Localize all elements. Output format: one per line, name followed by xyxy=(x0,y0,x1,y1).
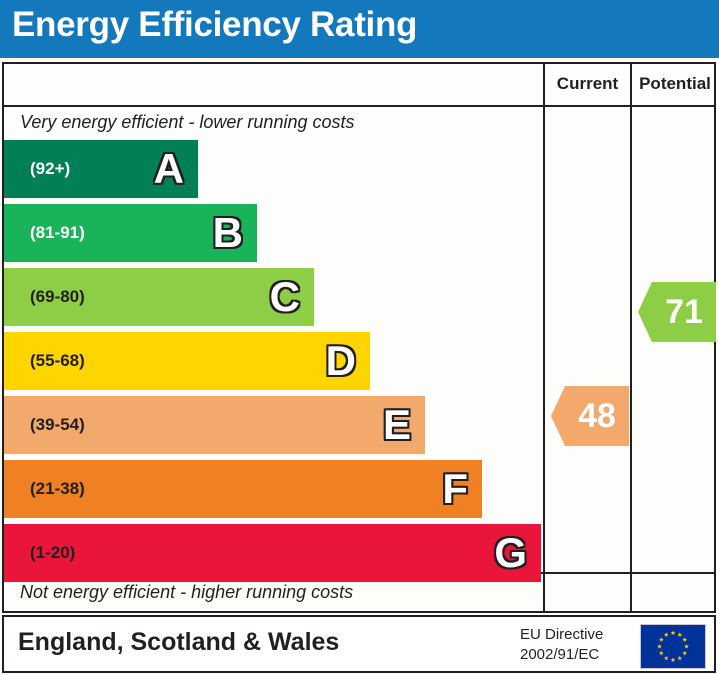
band-e: (39-54) E xyxy=(4,396,425,454)
band-f: (21-38) F xyxy=(4,460,482,518)
band-g: (1-20) G xyxy=(4,524,541,582)
page-title: Energy Efficiency Rating xyxy=(12,5,417,45)
rating-table: Current Potential Very energy efficient … xyxy=(2,62,716,613)
column-header-current: Current xyxy=(545,74,630,94)
band-d-range: (55-68) xyxy=(30,351,85,371)
band-b-range: (81-91) xyxy=(30,223,85,243)
band-a: (92+) A xyxy=(4,140,198,198)
band-e-range: (39-54) xyxy=(30,415,85,435)
caption-bottom: Not energy efficient - higher running co… xyxy=(20,582,353,603)
band-f-letter: F xyxy=(442,468,468,510)
footer-directive-line1: EU Directive xyxy=(520,625,630,645)
band-b: (81-91) B xyxy=(4,204,257,262)
band-g-letter: G xyxy=(494,532,527,574)
footer-region-label: England, Scotland & Wales xyxy=(18,628,339,657)
title-bar: Energy Efficiency Rating xyxy=(0,0,719,58)
band-a-range: (92+) xyxy=(30,159,70,179)
band-g-range: (1-20) xyxy=(30,543,75,563)
band-a-letter: A xyxy=(154,148,184,190)
band-c-letter: C xyxy=(270,276,300,318)
caption-top: Very energy efficient - lower running co… xyxy=(20,112,355,133)
band-d: (55-68) D xyxy=(4,332,370,390)
current-rating-arrow: 48 xyxy=(551,386,629,446)
band-f-range: (21-38) xyxy=(30,479,85,499)
potential-rating-arrow: 71 xyxy=(638,282,716,342)
footer-directive-label: EU Directive 2002/91/EC xyxy=(520,625,630,666)
band-c-range: (69-80) xyxy=(30,287,85,307)
band-b-letter: B xyxy=(213,212,243,254)
footer-bar: England, Scotland & Wales EU Directive 2… xyxy=(2,615,716,673)
epc-energy-efficiency-chart: Energy Efficiency Rating Current Potenti… xyxy=(0,0,719,675)
column-divider-potential xyxy=(630,64,632,611)
eu-flag-icon xyxy=(640,624,706,669)
column-divider-current xyxy=(543,64,545,611)
band-d-letter: D xyxy=(326,340,356,382)
band-e-letter: E xyxy=(383,404,411,446)
footer-directive-line2: 2002/91/EC xyxy=(520,645,630,665)
column-header-potential: Potential xyxy=(632,74,718,94)
band-c: (69-80) C xyxy=(4,268,314,326)
header-divider xyxy=(4,105,714,107)
current-rating-value: 48 xyxy=(565,399,629,433)
potential-rating-value: 71 xyxy=(652,295,716,329)
